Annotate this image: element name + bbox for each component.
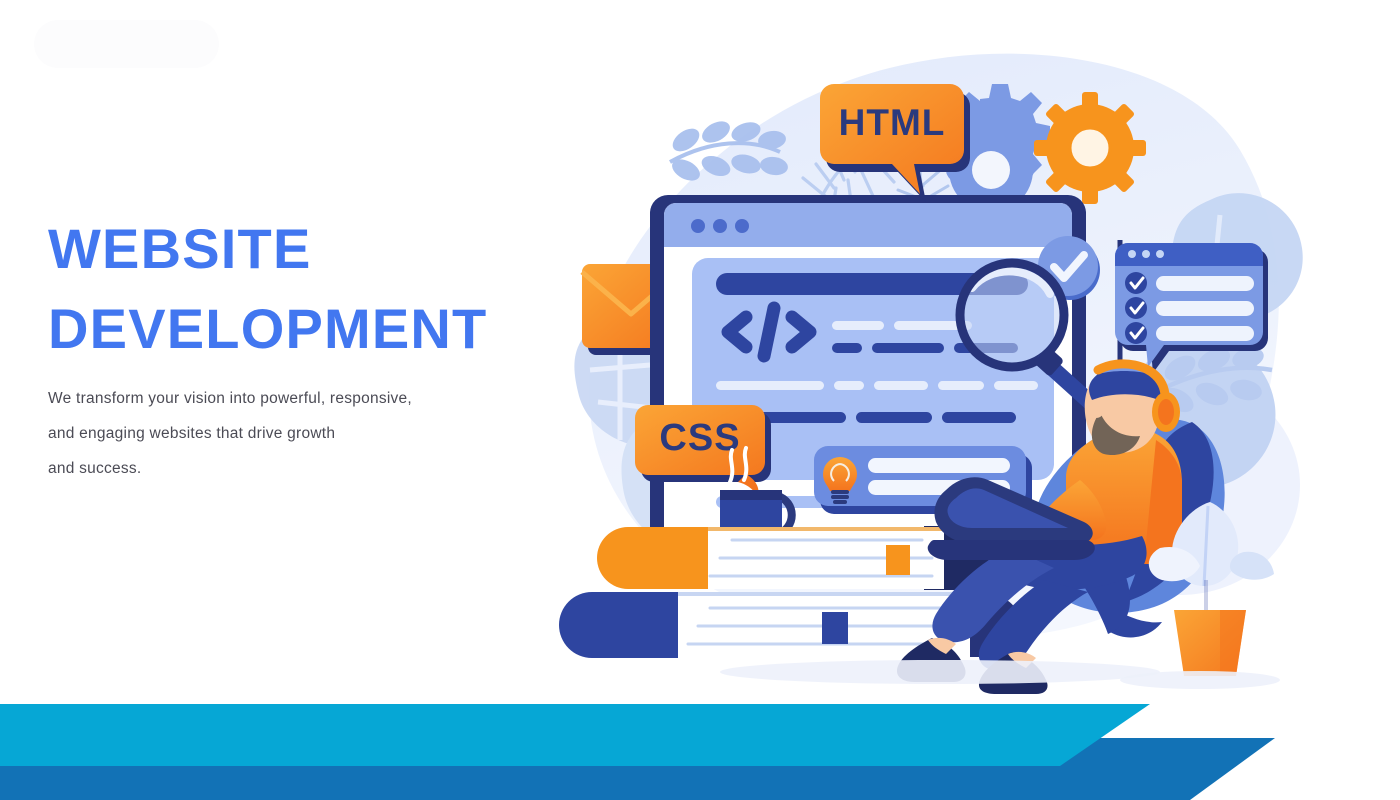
browser-dots bbox=[691, 219, 749, 233]
page-subtitle-line-2: and engaging websites that drive growth bbox=[48, 416, 518, 451]
page-title-line-1: WEBSITE bbox=[48, 209, 568, 289]
logo-placeholder bbox=[34, 20, 219, 68]
checklist-items bbox=[1125, 272, 1254, 344]
ground-shadow-plant bbox=[1120, 671, 1280, 689]
badge-css-label: CSS bbox=[659, 417, 740, 459]
checklist-bubble-dots bbox=[1128, 250, 1164, 258]
page-subtitle-line-3: and success. bbox=[48, 451, 518, 486]
badge-html-label: HTML bbox=[839, 102, 946, 143]
ground-shadow bbox=[720, 660, 1160, 684]
bookmark-orange bbox=[886, 545, 910, 575]
bookmark-navy bbox=[822, 612, 848, 644]
page-subtitle: We transform your vision into powerful, … bbox=[48, 381, 518, 486]
page-title-line-2: DEVELOPMENT bbox=[48, 289, 568, 369]
gear-icon-orange bbox=[1034, 92, 1146, 204]
page-title: WEBSITE DEVELOPMENT bbox=[48, 209, 568, 369]
page-subtitle-line-1: We transform your vision into powerful, … bbox=[48, 381, 518, 416]
banner-stage: WEBSITE DEVELOPMENT We transform your vi… bbox=[0, 0, 1400, 800]
website-development-illustration: HTML CSS bbox=[520, 40, 1300, 680]
